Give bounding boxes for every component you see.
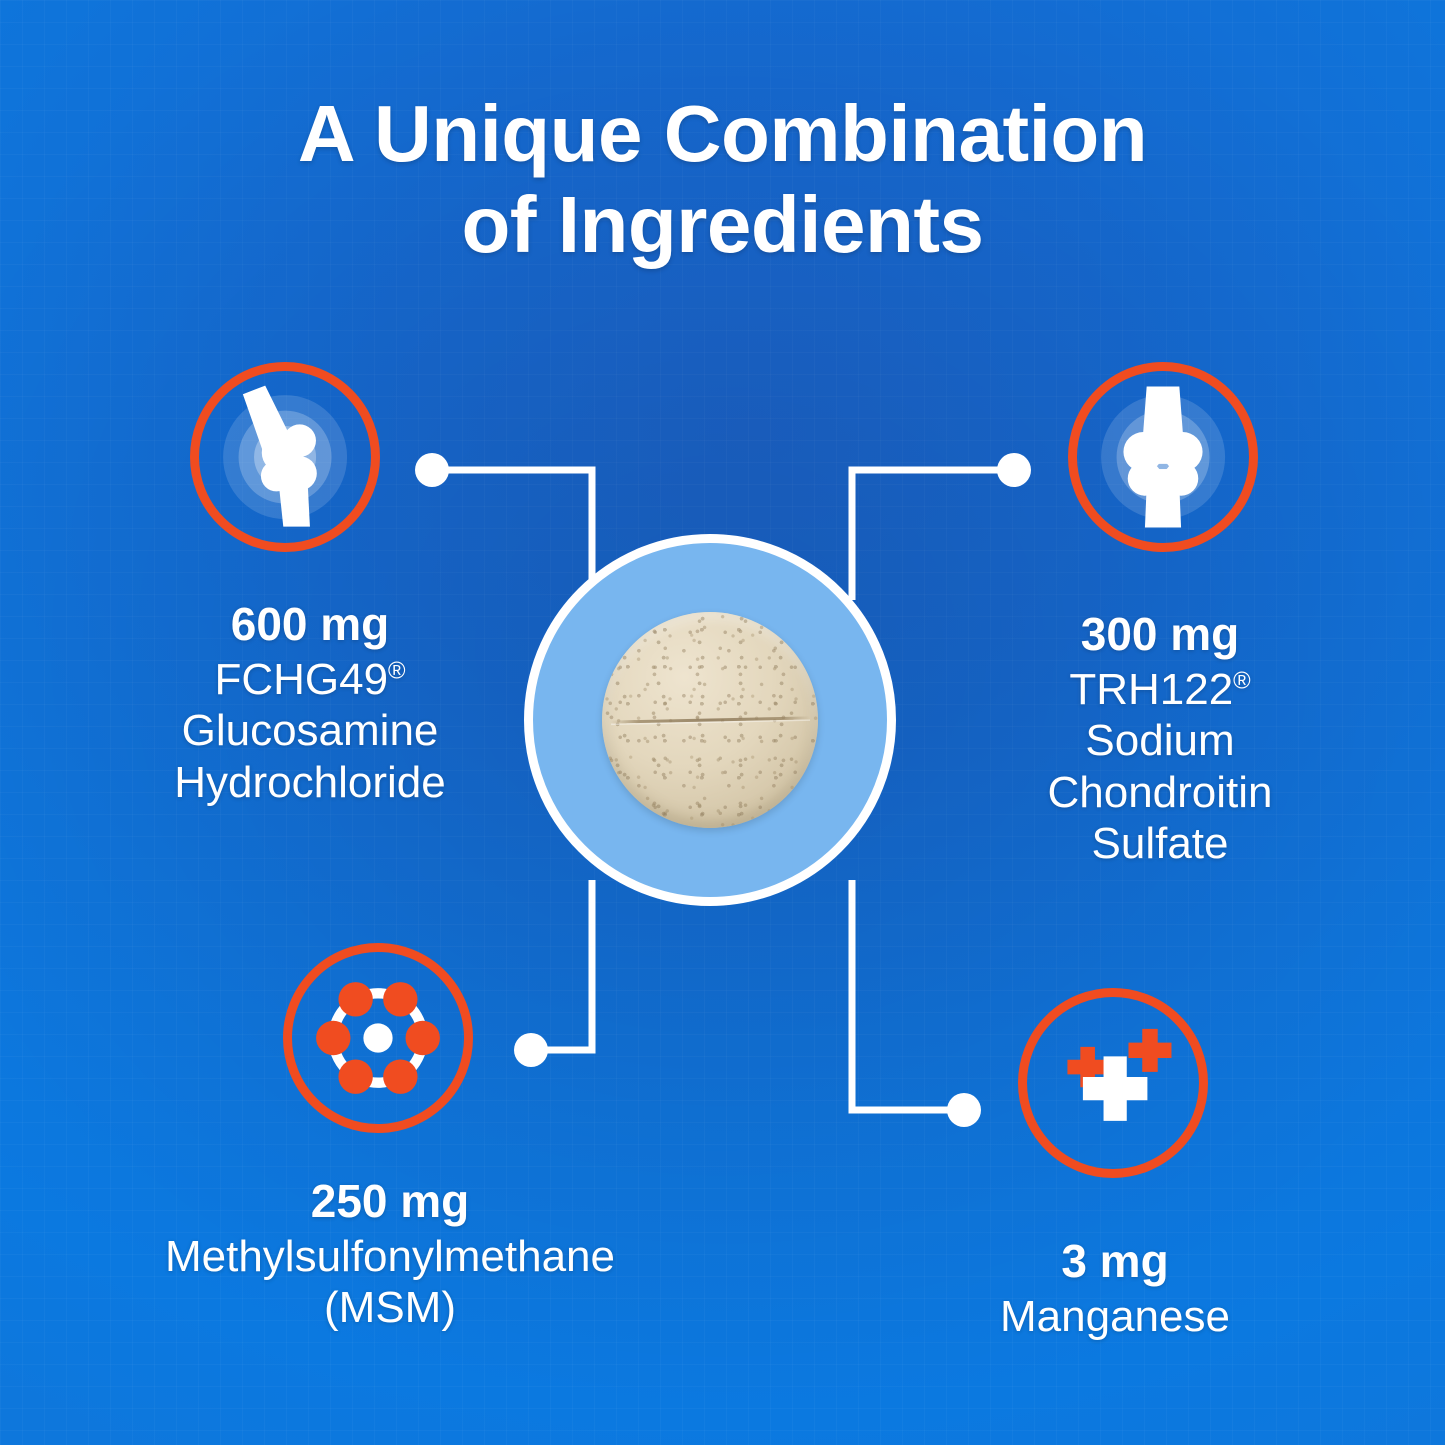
connector-dot-glucosamine [415, 453, 449, 487]
dose-glucosamine: 600 mg [95, 598, 525, 652]
connector-glucosamine [436, 470, 592, 602]
medical-cross-icon [1027, 997, 1199, 1169]
desc-msm-line1: Methylsulfonylmethane [85, 1231, 695, 1282]
connector-manganese [852, 880, 960, 1110]
desc-msm-line2: (MSM) [85, 1282, 695, 1333]
center-tablet-circle [524, 534, 896, 906]
icon-inner-glucosamine [199, 371, 371, 543]
icon-inner-chondroitin [1077, 371, 1249, 543]
desc-glucosamine-line1: FCHG49® [95, 654, 525, 705]
small-cross-right [1128, 1029, 1171, 1072]
desc-chondroitin-line3: Chondroitin [985, 767, 1335, 818]
ingredient-text-glucosamine: 600 mg FCHG49® Glucosamine Hydrochloride [95, 598, 525, 808]
icon-inner-manganese [1027, 997, 1199, 1169]
brand-code-chondroitin: TRH122 [1069, 665, 1233, 714]
icon-badge-chondroitin[interactable] [1068, 362, 1258, 552]
desc-chondroitin-line4: Sulfate [985, 818, 1335, 869]
desc-glucosamine-line2: Glucosamine [95, 705, 525, 756]
registered-mark: ® [1233, 667, 1251, 694]
connector-dot-chondroitin [997, 453, 1031, 487]
registered-mark: ® [388, 657, 406, 684]
icon-badge-manganese[interactable] [1018, 988, 1208, 1178]
tablet-embossing [602, 612, 818, 828]
icon-inner-msm [292, 952, 464, 1124]
connector-chondroitin [852, 470, 1010, 600]
connector-dot-manganese [947, 1093, 981, 1127]
desc-chondroitin-line2: Sodium [985, 715, 1335, 766]
supplement-tablet [602, 612, 818, 828]
ingredients-infographic: A Unique Combination of Ingredients [0, 0, 1445, 1445]
ingredient-text-manganese: 3 mg Manganese [930, 1235, 1300, 1342]
ingredient-text-chondroitin: 300 mg TRH122® Sodium Chondroitin Sulfat… [985, 608, 1335, 870]
icon-badge-glucosamine[interactable] [190, 362, 380, 552]
molecule-icon [292, 952, 464, 1124]
knee-joint-bone-icon [1077, 371, 1249, 543]
connector-msm [535, 880, 592, 1050]
dose-chondroitin: 300 mg [985, 608, 1335, 662]
dose-manganese: 3 mg [930, 1235, 1300, 1289]
brand-code-glucosamine: FCHG49 [214, 655, 388, 704]
ingredient-text-msm: 250 mg Methylsulfonylmethane (MSM) [85, 1175, 695, 1334]
dose-msm: 250 mg [85, 1175, 695, 1229]
knee-joint-bone-icon [199, 371, 371, 543]
desc-manganese-line1: Manganese [930, 1291, 1300, 1342]
connector-dot-msm [514, 1033, 548, 1067]
desc-chondroitin-line1: TRH122® [985, 664, 1335, 715]
icon-badge-msm[interactable] [283, 943, 473, 1133]
desc-glucosamine-line3: Hydrochloride [95, 757, 525, 808]
